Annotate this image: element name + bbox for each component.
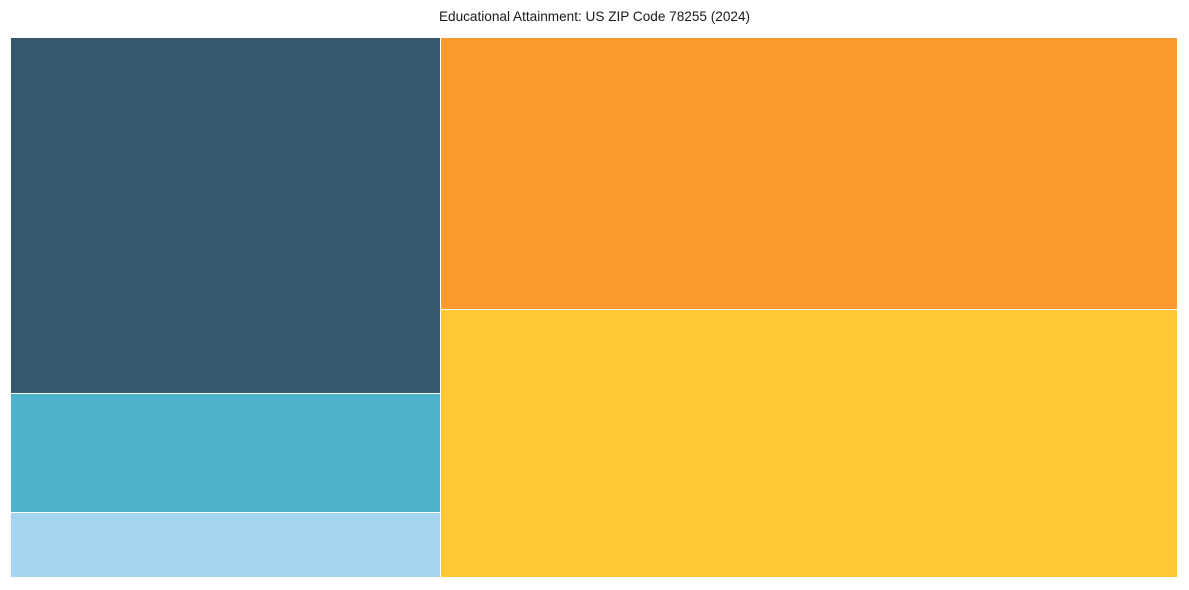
treemap-tile-graduate-or-professional-degree[interactable]: Graduate or Professional Degree (441, 310, 1177, 577)
treemap-tile-bachelors-degree[interactable]: Bachelor's Degree (441, 38, 1177, 309)
treemap-plot-area: Some College or Associate Degree High Sc… (11, 38, 1178, 578)
treemap-figure: Educational Attainment: US ZIP Code 7825… (0, 0, 1189, 590)
treemap-tile-high-school-graduate[interactable]: High School Graduate (11, 394, 440, 512)
treemap-tile-less-than-high-school[interactable]: Less Than High School (11, 513, 440, 577)
chart-title: Educational Attainment: US ZIP Code 7825… (0, 8, 1189, 25)
treemap-tile-some-college-or-associate-degree[interactable]: Some College or Associate Degree (11, 38, 440, 393)
